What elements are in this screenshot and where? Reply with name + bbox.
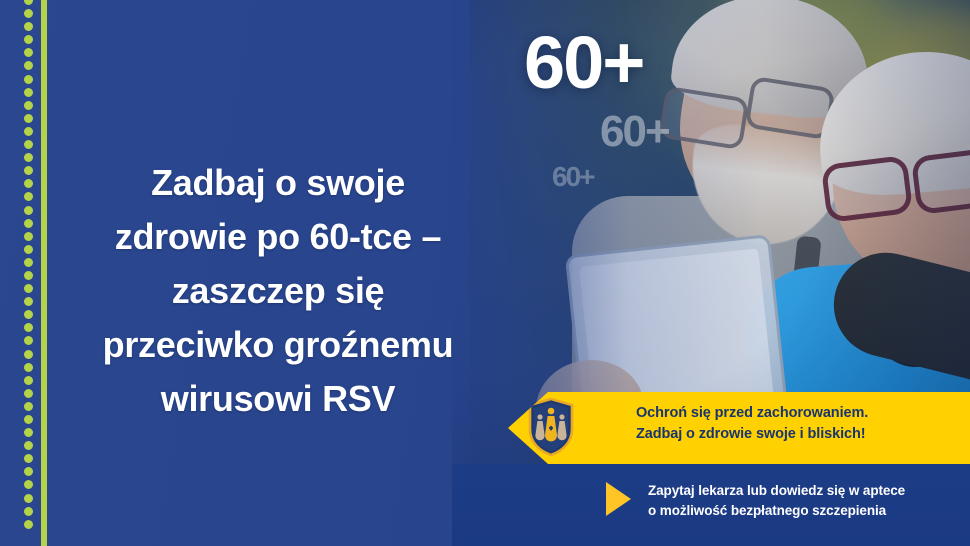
decor-dot (24, 0, 33, 5)
decor-dot (24, 88, 33, 97)
banner-line: Zadbaj o zdrowie swoje i bliskich! (636, 424, 868, 445)
decor-dot (24, 441, 33, 450)
headline-line: przeciwko groźnemu (58, 318, 498, 372)
decor-dot (24, 219, 33, 228)
decor-dot (24, 297, 33, 306)
decor-dot (24, 350, 33, 359)
age-mark-tertiary: 60+ (552, 163, 594, 191)
decor-dot (24, 376, 33, 385)
poster-canvas: 60+ 60+ 60+ Zadbaj o swoje zdrowie po 60… (0, 0, 970, 546)
decor-dot (24, 61, 33, 70)
decor-dot (24, 507, 33, 516)
decor-dot (24, 166, 33, 175)
decor-dot (24, 179, 33, 188)
decor-dot (24, 363, 33, 372)
footer-strip: Zapytaj lekarza lub dowiedz się w aptece… (452, 464, 970, 546)
decor-dot (24, 35, 33, 44)
decor-dot (24, 480, 33, 489)
decor-dot (24, 415, 33, 424)
decor-dot (24, 127, 33, 136)
decor-dot (24, 153, 33, 162)
decor-dot (24, 271, 33, 280)
decor-dot (24, 494, 33, 503)
decor-dot (24, 402, 33, 411)
decor-dot (24, 520, 33, 529)
decor-dot (24, 310, 33, 319)
decor-dot (24, 245, 33, 254)
decor-dot (24, 428, 33, 437)
headline-line: zdrowie po 60-tce – (58, 210, 498, 264)
banner-line: Ochroń się przed zachorowaniem. (636, 403, 868, 424)
decor-dot (24, 323, 33, 332)
decor-dot (24, 101, 33, 110)
banner-text: Ochroń się przed zachorowaniem. Zadbaj o… (636, 403, 868, 445)
footer-line: o możliwość bezpłatnego szczepienia (648, 501, 905, 521)
decor-dot (24, 389, 33, 398)
decor-dot (24, 9, 33, 18)
decor-dot (24, 336, 33, 345)
page-title: Zadbaj o swoje zdrowie po 60-tce – zaszc… (58, 156, 498, 426)
call-to-action-banner: Ochroń się przed zachorowaniem. Zadbaj o… (508, 392, 970, 464)
decor-dot (24, 48, 33, 57)
headline-line: zaszczep się (58, 264, 498, 318)
lime-vertical-stripe (41, 0, 47, 546)
decor-dot (24, 206, 33, 215)
decor-dot (24, 114, 33, 123)
footer-text: Zapytaj lekarza lub dowiedz się w aptece… (648, 481, 905, 521)
age-mark-primary: 60+ (524, 26, 644, 100)
decor-dot (24, 258, 33, 267)
decor-dot (24, 467, 33, 476)
dot-decoration-column (24, 0, 33, 546)
decor-dot (24, 22, 33, 31)
play-triangle-icon (606, 482, 631, 516)
decor-dot (24, 454, 33, 463)
decor-dot (24, 75, 33, 84)
shield-logo (528, 398, 574, 456)
headline-line: Zadbaj o swoje (58, 156, 498, 210)
footer-line: Zapytaj lekarza lub dowiedz się w aptece (648, 481, 905, 501)
decor-dot (24, 232, 33, 241)
headline-line: wirusowi RSV (58, 372, 498, 426)
decor-dot (24, 192, 33, 201)
age-mark-secondary: 60+ (600, 110, 669, 154)
decor-dot (24, 284, 33, 293)
decor-dot (24, 140, 33, 149)
